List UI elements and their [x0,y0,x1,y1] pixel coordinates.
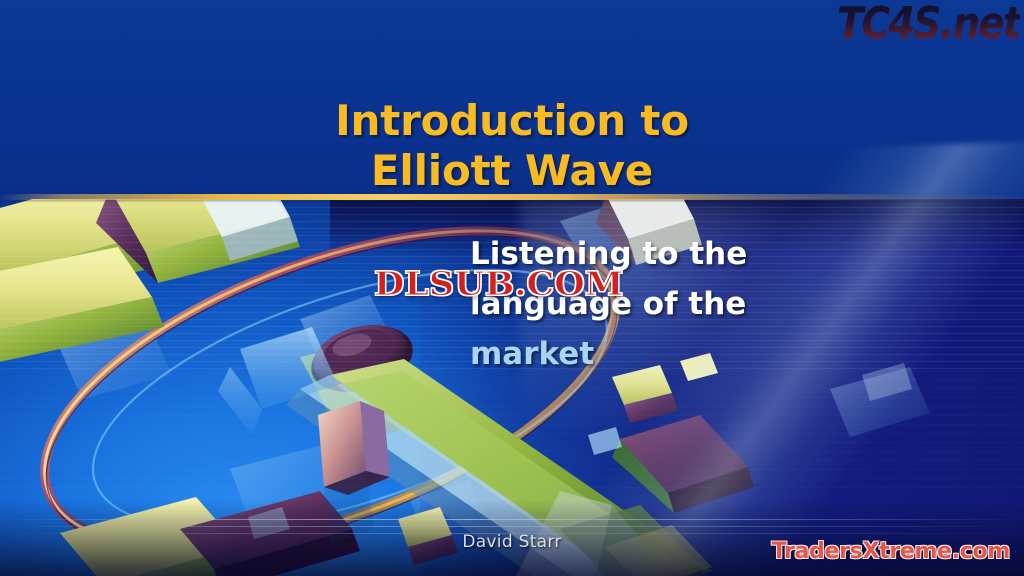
dlsub-watermark: DLSUB.COM [374,264,623,303]
slide-title: Introduction to Elliott Wave [0,96,1024,196]
slide-subtitle: Listening to the language of the market [470,229,900,379]
presenter-name: David Starr [352,532,672,552]
presentation-slide: Introduction to Elliott Wave Listening t… [0,0,1024,576]
tradersxtreme-watermark: TradersXtreme.com [772,539,1010,564]
tc4s-watermark: TC4S.net [837,0,1020,49]
subtitle-accent-word: market [470,336,594,372]
